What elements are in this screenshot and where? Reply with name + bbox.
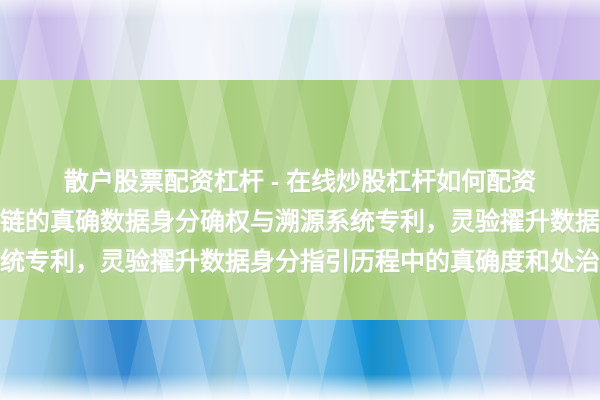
banner-text-block: 散户股票配资杠杆 - 在线炒股杠杆如何配资 链的真确数据身分确权与溯源系统专利，… bbox=[0, 162, 600, 282]
background-band-bottom bbox=[0, 320, 600, 400]
banner-body-line-2: 统专利，灵验擢升数据身分指引历程中的真确度和处治 bbox=[0, 242, 600, 282]
banner-body-line-1: 链的真确数据身分确权与溯源系统专利，灵验擢升数据 bbox=[0, 202, 600, 242]
decorative-banner: 散户股票配资杠杆 - 在线炒股杠杆如何配资 链的真确数据身分确权与溯源系统专利，… bbox=[0, 0, 600, 400]
background-band-top bbox=[0, 0, 600, 80]
banner-title: 散户股票配资杠杆 - 在线炒股杠杆如何配资 bbox=[0, 162, 600, 202]
